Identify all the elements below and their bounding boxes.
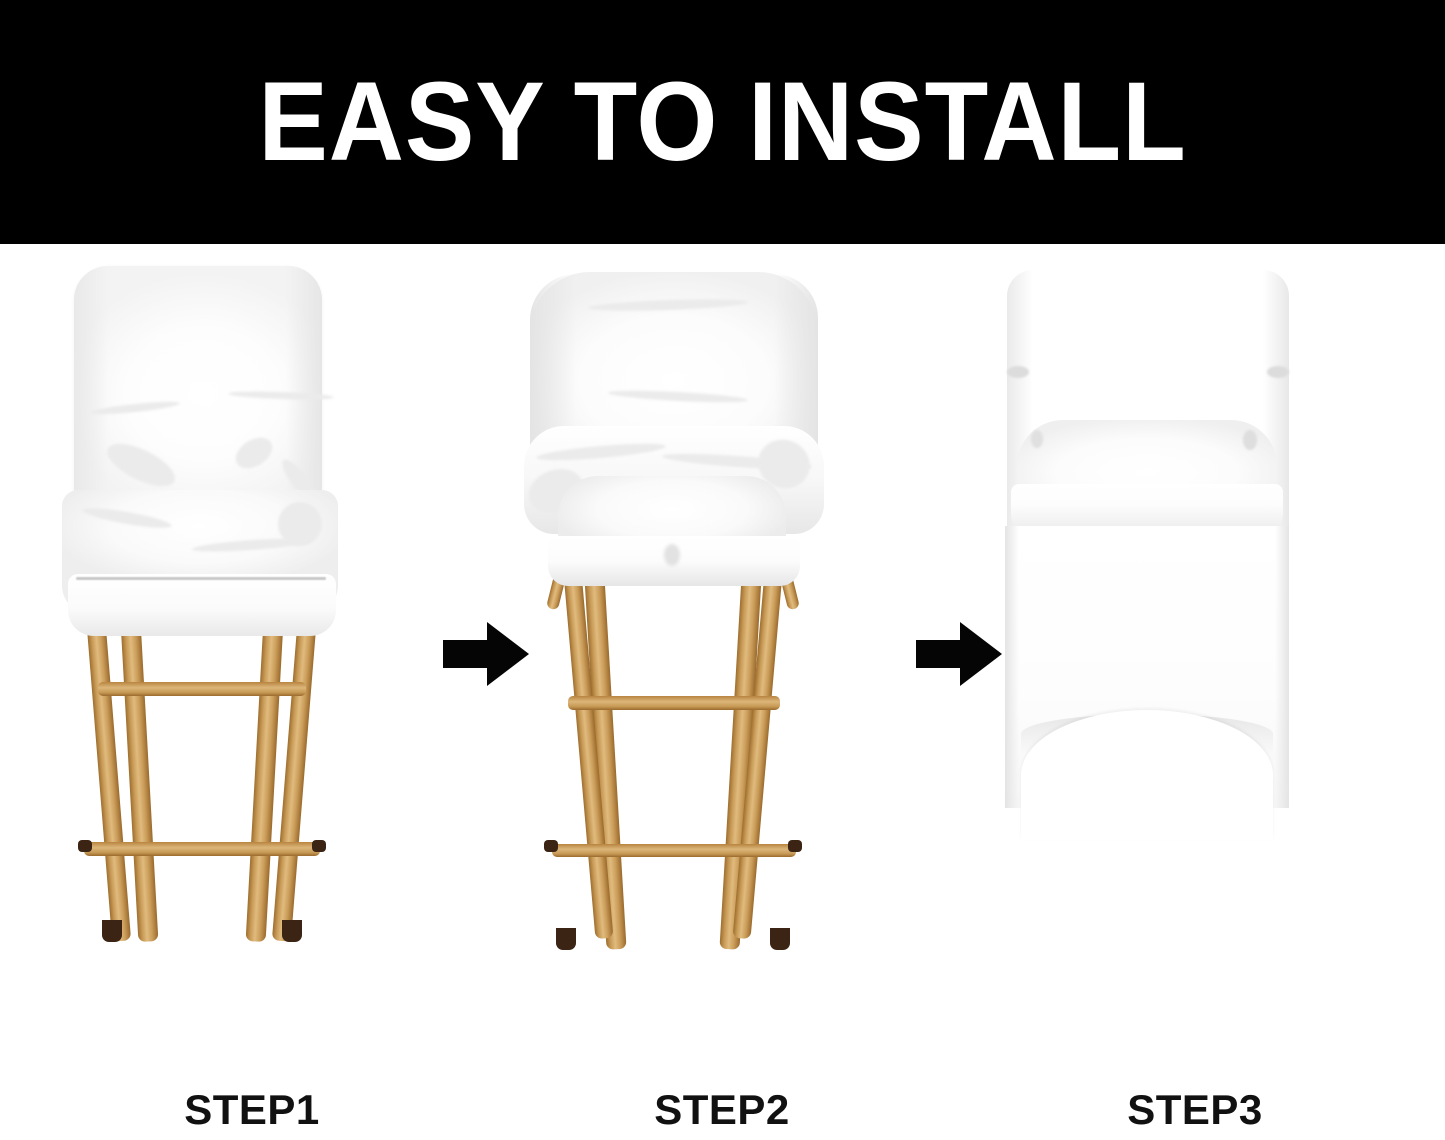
- chair1-foot-rear-left: [78, 840, 92, 852]
- step-label-2: STEP2: [512, 1086, 932, 1134]
- chair2-foot-rear-right: [788, 840, 802, 852]
- chair2-rail-upper: [568, 696, 780, 710]
- step-label-1: STEP1: [42, 1086, 462, 1134]
- steps-area: STEP1: [0, 244, 1445, 1140]
- chair3-bottom-arch: [1021, 710, 1273, 840]
- chair2-foot-front-right: [770, 928, 790, 950]
- header-banner: EASY TO INSTALL: [0, 0, 1445, 244]
- chair3-shoulder-right: [1267, 366, 1289, 378]
- step-label-3: STEP3: [985, 1086, 1405, 1134]
- chair3-seat-tuck-left: [1031, 430, 1043, 448]
- chair1-foot-front-right: [282, 920, 302, 942]
- infographic-page: EASY TO INSTALL: [0, 0, 1445, 1140]
- chair1-rail-upper: [98, 682, 306, 696]
- chair3-skirt-shade-right: [1275, 526, 1289, 808]
- chair2-rail-lower: [552, 844, 796, 857]
- chair-illustration-step3: [985, 244, 1405, 1054]
- chair3-seat-tuck-right: [1243, 430, 1257, 450]
- chair2-foot-front-left: [556, 928, 576, 950]
- chair2-foot-rear-left: [544, 840, 558, 852]
- step-panel-3: STEP3: [985, 244, 1405, 1140]
- step-panel-1: STEP1: [42, 244, 462, 1140]
- page-title: EASY TO INSTALL: [51, 0, 1395, 244]
- chair1-seat-pad: [68, 574, 336, 636]
- chair-illustration-step2: [512, 244, 932, 1054]
- chair1-seat-seam: [76, 577, 326, 580]
- arrow-shaft: [916, 640, 964, 668]
- chair3-shoulder-left: [1007, 366, 1029, 378]
- chair1-foot-rear-right: [312, 840, 326, 852]
- step-panel-2: STEP2: [512, 244, 932, 1140]
- chair-illustration-step1: [42, 244, 462, 1054]
- chair1-rail-lower: [84, 842, 320, 856]
- chair3-skirt-shade-left: [1005, 526, 1019, 808]
- chair1-foot-front-left: [102, 920, 122, 942]
- chair2-seat-dimple: [664, 544, 680, 566]
- arrow-shaft: [443, 640, 491, 668]
